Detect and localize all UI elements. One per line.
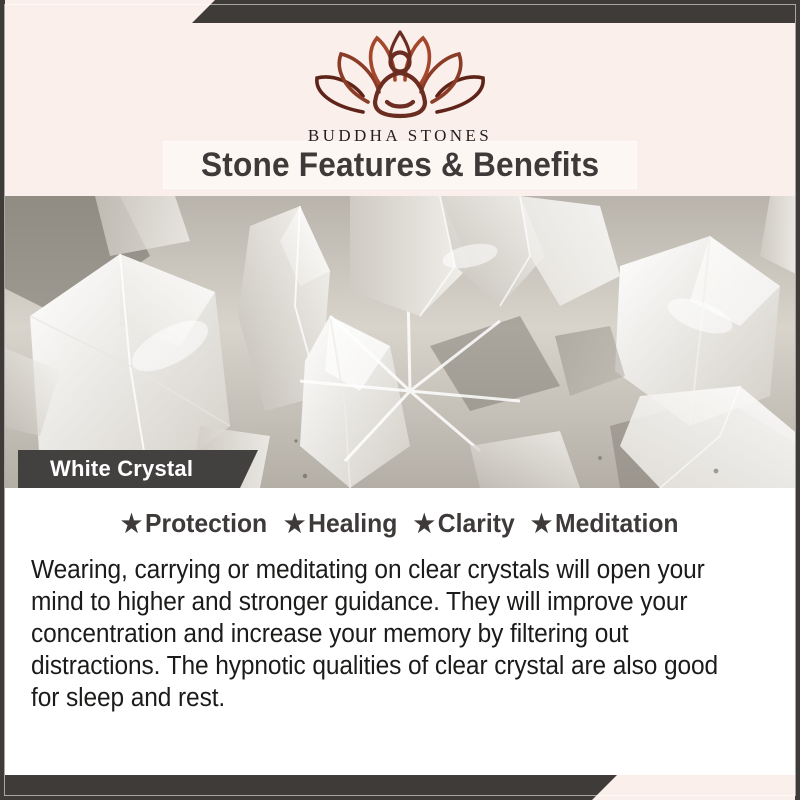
benefit-item-meditation: ★Meditation: [531, 508, 679, 539]
lotus-meditation-figure-icon: [305, 26, 495, 122]
star-icon: ★: [284, 510, 305, 538]
benefit-label: Clarity: [438, 508, 515, 538]
stone-info-card: BUDDHA STONES Stone Features & Benefits: [0, 0, 800, 800]
benefit-label: Healing: [309, 508, 398, 538]
card-body: ★Protection★Healing★Clarity★Meditation W…: [5, 488, 795, 775]
title-plaque: Stone Features & Benefits: [164, 142, 636, 188]
benefit-label: Meditation: [555, 508, 679, 538]
benefit-item-protection: ★Protection: [121, 508, 267, 539]
white-crystal-photo: White Crystal: [0, 196, 800, 488]
frame-edge-right: [795, 0, 800, 800]
frame-edge-left: [0, 0, 5, 800]
star-icon: ★: [121, 510, 142, 538]
stone-name-ribbon: White Crystal: [18, 450, 258, 488]
description-paragraph: Wearing, carrying or meditating on clear…: [31, 554, 741, 714]
benefit-item-clarity: ★Clarity: [413, 508, 514, 539]
benefit-label: Protection: [145, 508, 267, 538]
card-header: BUDDHA STONES Stone Features & Benefits: [0, 0, 800, 196]
star-icon: ★: [413, 510, 434, 538]
stone-name-label: White Crystal: [18, 456, 193, 482]
benefit-item-healing: ★Healing: [284, 508, 397, 539]
benefits-list: ★Protection★Healing★Clarity★Meditation: [5, 508, 795, 539]
page-title: Stone Features & Benefits: [201, 146, 599, 185]
star-icon: ★: [531, 510, 552, 538]
crystal-cluster-illustration: [0, 196, 800, 488]
brand-logo: BUDDHA STONES: [0, 26, 800, 146]
